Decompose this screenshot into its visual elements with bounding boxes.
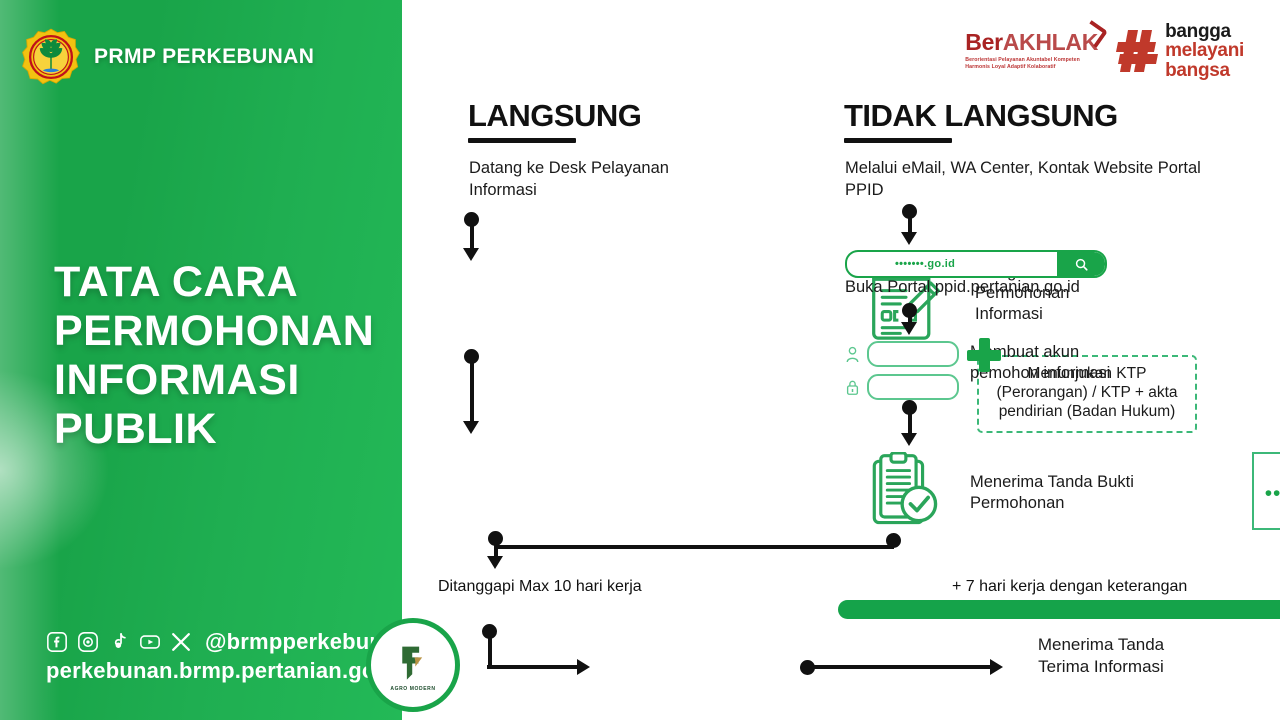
timeline-progress-bar: [838, 600, 1280, 619]
agro-modern-badge: AGRO MODERN: [366, 618, 460, 712]
search-input-value: •••••••.go.id: [847, 258, 1057, 270]
bangga-melayani-bangsa-logo: bangga melayani bangsa: [1116, 22, 1244, 80]
facebook-icon[interactable]: [46, 631, 68, 653]
x-twitter-icon[interactable]: [170, 631, 192, 653]
partner-logos: BerAKHLAK Berorientasi Pelayanan Akuntab…: [965, 22, 1244, 80]
arrow-down-icon: [463, 248, 479, 261]
tidak-langsung-heading-underline: [844, 138, 952, 143]
langsung-lead-text: Datang ke Desk Pelayanan Informasi: [469, 158, 729, 202]
arrow-down-icon: [487, 556, 503, 569]
timeline-right-label: + 7 hari kerja dengan keterangan: [952, 578, 1187, 596]
ministry-of-agriculture-logo-icon: [22, 28, 80, 86]
receipt-text: Menerima Tanda Terima Informasi: [1016, 634, 1186, 678]
login-password-row: [845, 374, 959, 400]
column-heading-langsung: LANGSUNG: [468, 98, 641, 143]
berakhlak-tagline-2: Harmonis Loyal Adaptif Kolaboratif: [965, 64, 1098, 72]
password-field[interactable]: [867, 374, 959, 400]
arrow-right-icon: [577, 659, 590, 675]
arrow-right-icon: [990, 659, 1003, 675]
search-input[interactable]: •••••••.go.id: [845, 250, 1107, 278]
youtube-icon[interactable]: [139, 631, 161, 653]
portal-text: Buka Portal ppid.pertanian.go.id: [845, 277, 1245, 299]
search-button[interactable]: [1057, 252, 1105, 276]
search-icon: [1074, 257, 1089, 272]
login-form-icon: [845, 341, 959, 407]
agro-modern-label: AGRO MODERN: [390, 686, 435, 692]
brand-header: PRMP PERKEBUNAN: [22, 28, 314, 86]
infographic-poster: PRMP PERKEBUNAN TATA CARA PERMOHONAN INF…: [0, 0, 1280, 720]
berakhlak-logo: BerAKHLAK Berorientasi Pelayanan Akuntab…: [965, 31, 1098, 72]
arrow-down-icon: [463, 421, 479, 434]
question-mark-box-icon: ••• ?: [1252, 452, 1280, 530]
connector-line: [908, 407, 912, 435]
website-url: perkebunan.brmp.pertanian.go.id: [46, 658, 409, 684]
page-title: TATA CARA PERMOHONAN INFORMASI PUBLIK: [54, 258, 394, 454]
brand-title: PRMP PERKEBUNAN: [94, 45, 314, 69]
footer-contact: @brmpperkebunan perkebunan.brmp.pertania…: [46, 629, 409, 684]
timeline-green-segment: [838, 600, 1280, 619]
connector-line: [488, 631, 492, 667]
arrow-down-icon: [901, 232, 917, 245]
connector-line-horizontal: [494, 545, 894, 549]
arrow-down-icon: [901, 322, 917, 335]
instagram-icon[interactable]: [77, 631, 99, 653]
berakhlak-tagline-1: Berorientasi Pelayanan Akuntabel Kompete…: [965, 57, 1098, 65]
berakhlak-prefix: Ber: [965, 29, 1002, 55]
clipboard-check-icon: [865, 452, 943, 535]
connector-line-horizontal: [806, 665, 992, 669]
bangga-word-1: bangga: [1165, 22, 1244, 41]
bangga-word-2: melayani: [1165, 41, 1244, 60]
bangga-word-3: bangsa: [1165, 61, 1244, 80]
connector-line: [470, 219, 474, 251]
hashtag-icon: [1116, 28, 1160, 74]
langsung-heading-underline: [468, 138, 576, 143]
langsung-heading-text: LANGSUNG: [468, 98, 641, 134]
connector-line: [470, 356, 474, 424]
plus-icon: [967, 338, 1001, 372]
langsung-step-2-text: Menerima Tanda Bukti Permohonan: [970, 472, 1140, 514]
timeline-left-label: Ditanggapi Max 10 hari kerja: [438, 578, 642, 596]
username-field[interactable]: [867, 341, 959, 367]
tidak-langsung-lead-text: Melalui eMail, WA Center, Kontak Website…: [845, 158, 1215, 202]
content-area: BerAKHLAK Berorientasi Pelayanan Akuntab…: [402, 0, 1280, 720]
user-icon: [845, 346, 860, 363]
connector-line-horizontal: [487, 665, 579, 669]
column-heading-tidak-langsung: TIDAK LANGSUNG: [844, 98, 1118, 143]
tiktok-icon[interactable]: [108, 631, 130, 653]
social-links-row: @brmpperkebunan: [46, 629, 409, 655]
arrow-down-icon: [901, 433, 917, 446]
tidak-langsung-heading-text: TIDAK LANGSUNG: [844, 98, 1118, 134]
login-username-row: [845, 341, 959, 367]
lock-icon: [845, 379, 860, 396]
